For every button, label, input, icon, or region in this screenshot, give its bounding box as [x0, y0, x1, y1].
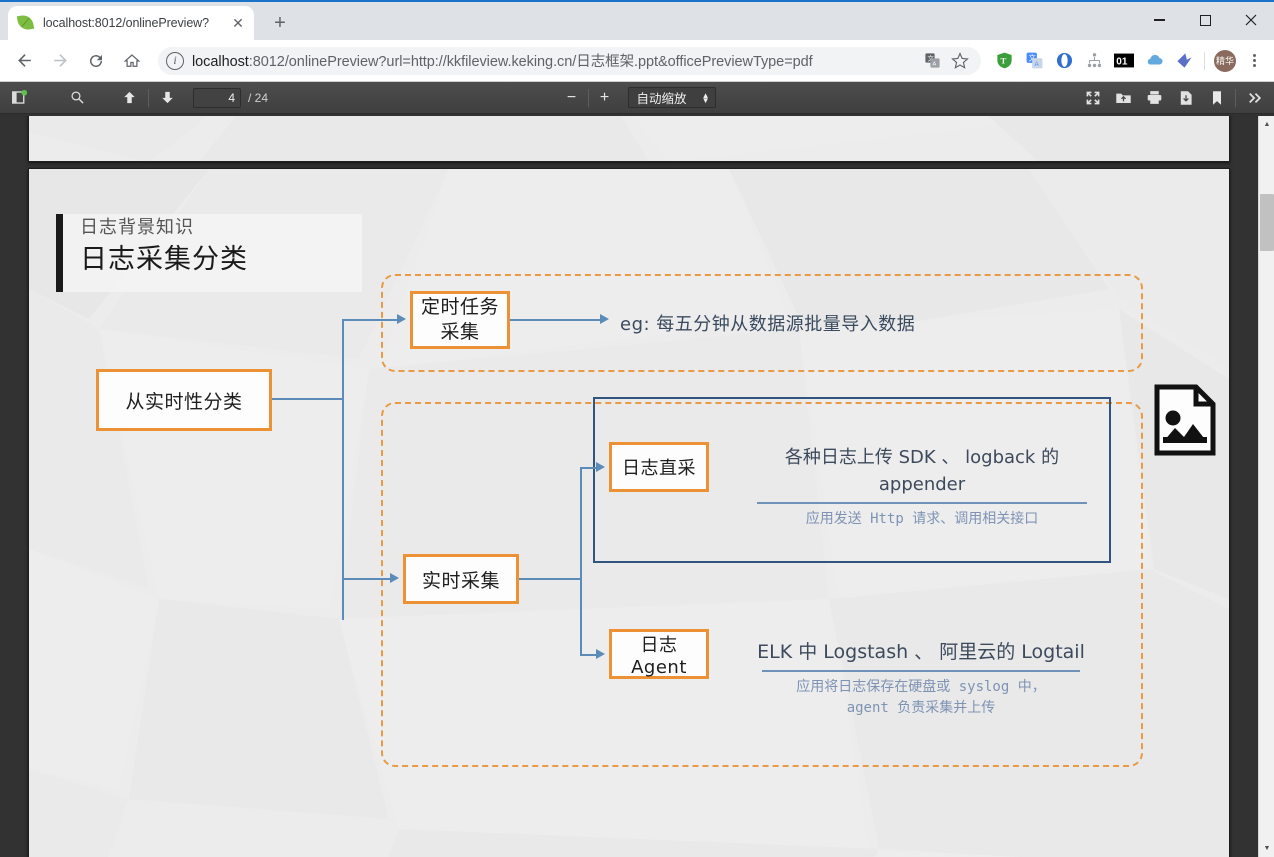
title-accent-bar [56, 214, 63, 292]
divider [588, 89, 589, 107]
sitemap-icon[interactable] [1079, 46, 1109, 76]
reload-icon[interactable] [81, 46, 111, 76]
slide-background [29, 116, 1229, 161]
browser-tab[interactable]: localhost:8012/onlinePreview? ✕ [8, 6, 254, 40]
url-text: localhost:8012/onlinePreview?url=http://… [192, 50, 813, 71]
arrow-to-direct-icon [596, 462, 605, 472]
direct-detail-block: 各种日志上传 SDK 、 logback 的 appender 应用发送 Htt… [757, 444, 1087, 530]
avatar-label: 精华 [1214, 50, 1236, 72]
agent-detail-sub: 应用将日志保存在硬盘或 syslog 中， agent 负责采集并上传 [751, 677, 1091, 719]
pdf-page-previous [28, 116, 1230, 162]
agent-detail-block: ELK 中 Logstash 、 阿里云的 Logtail 应用将日志保存在硬盘… [751, 639, 1091, 719]
node-direct-collect: 日志直采 [609, 442, 709, 492]
leaf-icon [18, 15, 34, 31]
back-icon[interactable] [9, 46, 39, 76]
tab-title: localhost:8012/onlinePreview? [43, 16, 228, 30]
tab-strip: localhost:8012/onlinePreview? ✕ + [0, 0, 1274, 40]
forward-icon [45, 46, 75, 76]
new-tab-button[interactable]: + [266, 9, 294, 37]
zero-one-icon[interactable]: 01 [1109, 46, 1139, 76]
connector-subtrunk-direct [580, 467, 596, 469]
download-icon[interactable] [1171, 85, 1200, 111]
pdf-toolbar: 4 / 24 − + 自动缩放 ▲▼ [0, 82, 1274, 114]
connector-trunk-realtime [342, 578, 390, 580]
star-icon[interactable] [947, 48, 973, 74]
open-folder-icon[interactable] [1109, 85, 1138, 111]
address-bar[interactable]: i localhost:8012/onlinePreview?url=http:… [158, 47, 981, 75]
arrow-to-cron-icon [397, 314, 406, 324]
zoom-in-button[interactable]: + [592, 86, 618, 110]
connector-cron-eg [510, 319, 600, 321]
extensions-area: T 文A 01 精华 [987, 46, 1268, 76]
zoom-out-button[interactable]: − [559, 86, 585, 110]
svg-text:01: 01 [1116, 56, 1128, 67]
close-window-button[interactable] [1228, 0, 1274, 40]
url-host: localhost [192, 54, 249, 70]
google-translate-icon[interactable]: 文A [1019, 46, 1049, 76]
browser-toolbar: i localhost:8012/onlinePreview?url=http:… [0, 40, 1274, 82]
connector-realtime-trunk [519, 578, 582, 580]
fullscreen-icon[interactable] [1078, 85, 1107, 111]
connector-trunk-vertical [342, 319, 344, 620]
arrow-to-eg-icon [600, 314, 609, 324]
arrow-to-agent-icon [596, 649, 605, 659]
window-controls [1136, 0, 1274, 40]
connector-subtrunk-vertical [580, 467, 582, 654]
info-circle-icon[interactable]: i [166, 52, 184, 70]
scroll-up-button[interactable]: ▲ [1259, 116, 1274, 133]
node-realtime: 实时采集 [403, 554, 519, 604]
zoom-level-value: 自动缩放 [637, 88, 687, 107]
close-icon[interactable]: ✕ [228, 13, 248, 33]
divider [762, 670, 1080, 672]
minimize-button[interactable] [1136, 0, 1182, 40]
slide-title: 日志采集分类 [80, 242, 248, 278]
scroll-down-button[interactable]: ▼ [1259, 840, 1274, 857]
pdf-viewer-canvas[interactable]: 日志背景知识 日志采集分类 [0, 116, 1258, 857]
double-chevron-right-icon[interactable] [1240, 85, 1269, 111]
scrollbar-thumb[interactable] [1260, 194, 1274, 251]
url-rest: :8012/onlinePreview?url=http://kkfilevie… [249, 54, 813, 70]
vertical-scrollbar[interactable]: ▲ ▼ [1258, 116, 1274, 857]
close-icon [1245, 14, 1257, 26]
slide-title-block: 日志背景知识 日志采集分类 [56, 214, 362, 292]
connector-subtrunk-agent [580, 654, 596, 656]
avatar[interactable]: 精华 [1210, 46, 1240, 76]
svg-text:A: A [932, 61, 936, 67]
maximize-button[interactable] [1182, 0, 1228, 40]
node-cron: 定时任务 采集 [410, 291, 510, 349]
kiwi-icon[interactable] [1169, 46, 1199, 76]
pdf-page-current: 日志背景知识 日志采集分类 [28, 168, 1230, 857]
slide-content: 日志背景知识 日志采集分类 [29, 169, 1229, 857]
direct-detail-sub: 应用发送 Http 请求、调用相关接口 [757, 509, 1087, 530]
direct-detail-main: 各种日志上传 SDK 、 logback 的 appender [757, 444, 1087, 498]
node-log-agent: 日志 Agent [609, 629, 709, 679]
divider [1204, 52, 1205, 70]
divider [757, 502, 1087, 504]
connector-root-trunk [272, 398, 344, 400]
chrome-menu-icon[interactable] [1240, 46, 1268, 76]
agent-detail-main: ELK 中 Logstash 、 阿里云的 Logtail [751, 639, 1091, 666]
tampermonkey-icon[interactable]: T [989, 46, 1019, 76]
spinner-icon: ▲▼ [702, 93, 710, 103]
cloud-icon[interactable] [1139, 46, 1169, 76]
broken-image-icon [1154, 384, 1216, 456]
arrow-to-realtime-icon [390, 573, 399, 583]
bookmark-icon[interactable] [1202, 85, 1231, 111]
svg-text:T: T [1000, 56, 1006, 66]
slide-subtitle: 日志背景知识 [80, 216, 248, 240]
opera-touch-icon[interactable] [1049, 46, 1079, 76]
home-icon[interactable] [117, 46, 147, 76]
node-root: 从实时性分类 [96, 369, 272, 431]
browser-window: localhost:8012/onlinePreview? ✕ + i loca… [0, 0, 1274, 857]
translate-icon[interactable]: 文A [919, 48, 945, 74]
node-cron-label: 定时任务 采集 [421, 295, 499, 345]
connector-trunk-cron [342, 319, 397, 321]
eg-text: eg: 每五分钟从数据源批量导入数据 [620, 310, 915, 336]
divider [1235, 89, 1236, 107]
printer-icon[interactable] [1140, 85, 1169, 111]
zoom-level-select[interactable]: 自动缩放 ▲▼ [628, 87, 716, 108]
